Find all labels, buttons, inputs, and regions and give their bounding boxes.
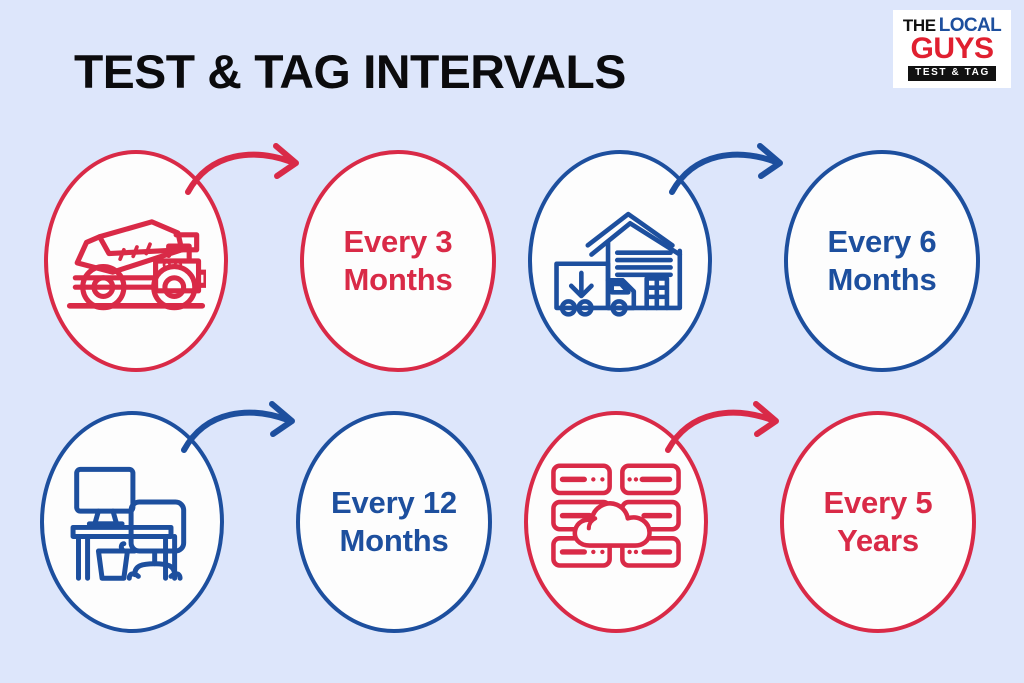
icon-circle-cloud-server <box>524 411 708 633</box>
interval-group-3: Every 12 Months <box>40 403 492 633</box>
logo-guys-text: GUYS <box>910 35 993 64</box>
page-title: TEST & TAG INTERVALS <box>74 44 626 99</box>
interval-group-1: Every 3 Months <box>44 142 496 372</box>
text-circle-every-12-months: Every 12 Months <box>296 411 492 633</box>
interval-label-1: Every 3 Months <box>336 223 461 299</box>
interval-label-2: Every 6 Months <box>820 223 945 299</box>
icon-circle-warehouse <box>528 150 712 372</box>
interval-group-4: Every 5 Years <box>524 403 976 633</box>
text-circle-every-6-months: Every 6 Months <box>784 150 980 372</box>
icon-circle-dump-truck <box>44 150 228 372</box>
logo-tagline: TEST & TAG <box>908 66 996 81</box>
interval-label-4: Every 5 Years <box>816 484 941 560</box>
header: TEST & TAG INTERVALS THE LOCAL GUYS TEST… <box>0 0 1024 118</box>
icon-circle-office-desk <box>40 411 224 633</box>
mining-dump-truck-icon <box>66 197 206 325</box>
office-desk-workstation-icon <box>62 458 202 586</box>
cloud-server-rack-icon <box>546 458 686 586</box>
interval-group-2: Every 6 Months <box>528 142 980 372</box>
text-circle-every-3-months: Every 3 Months <box>300 150 496 372</box>
interval-label-3: Every 12 Months <box>323 484 465 560</box>
text-circle-every-5-years: Every 5 Years <box>780 411 976 633</box>
warehouse-delivery-truck-icon <box>550 197 690 325</box>
brand-logo: THE LOCAL GUYS TEST & TAG <box>893 10 1011 88</box>
